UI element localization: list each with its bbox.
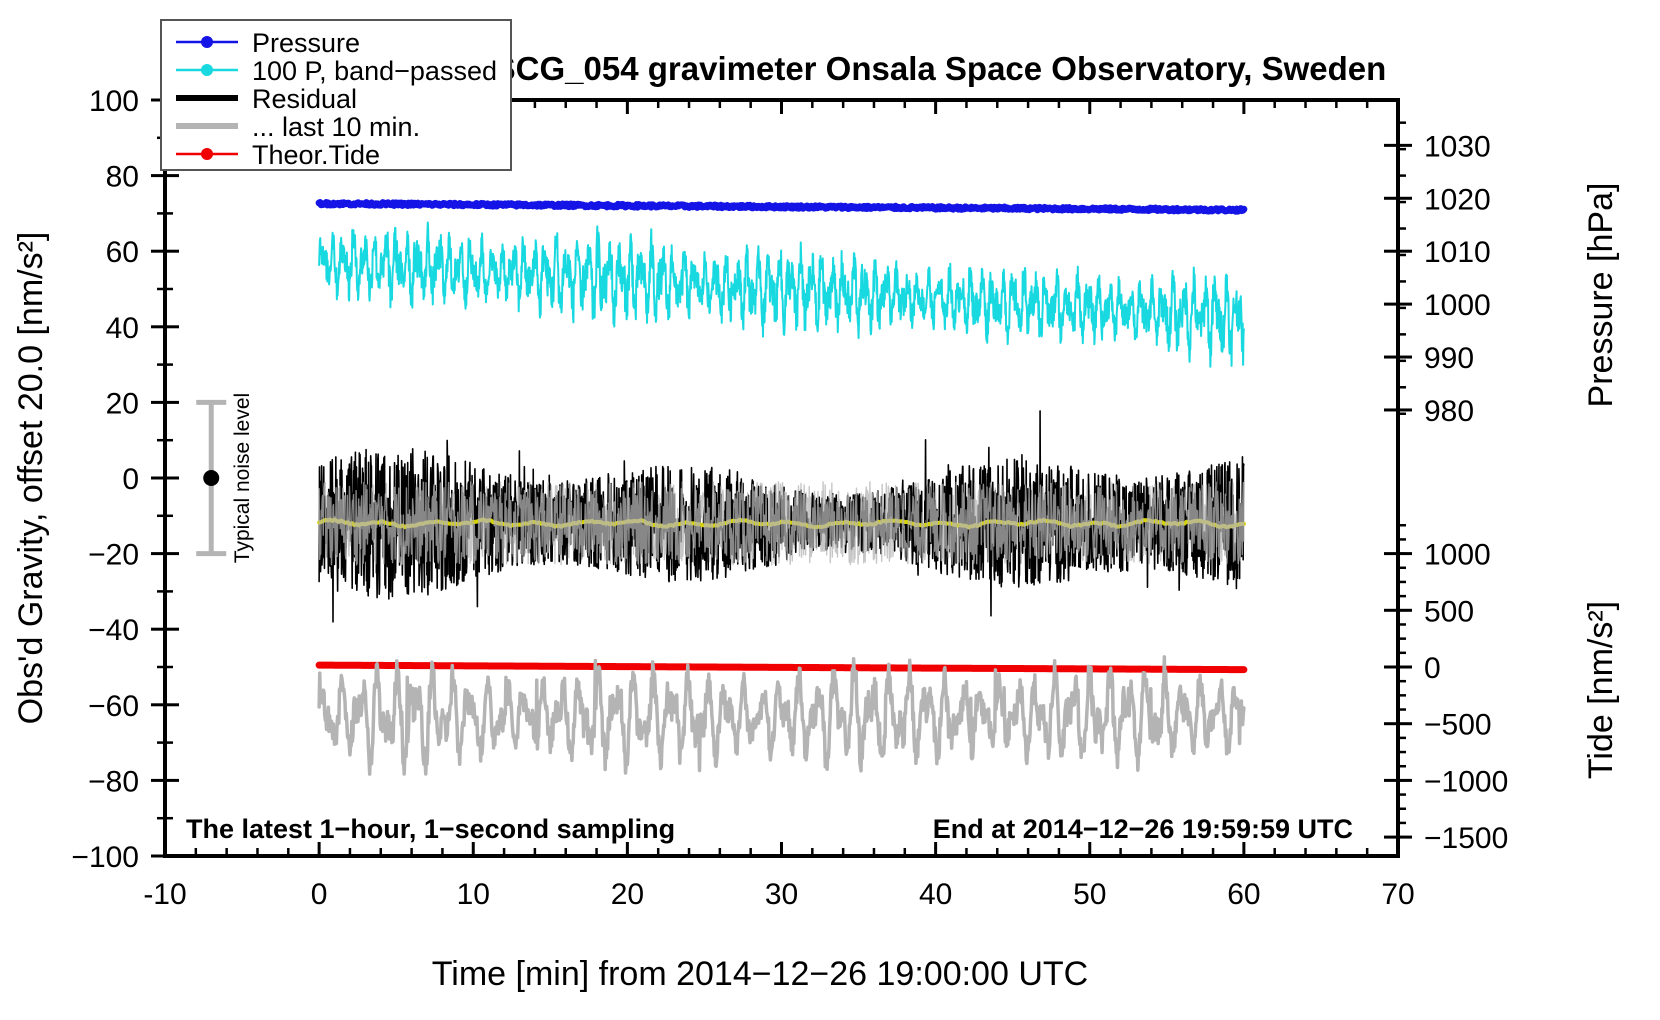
legend[interactable]: Pressure100 P, band−passedResidual... la…: [161, 20, 511, 170]
y-tick-label: −20: [88, 539, 139, 572]
x-tick-label: 70: [1381, 878, 1414, 911]
legend-marker-icon: [201, 64, 213, 76]
pressure-tick-label: 990: [1424, 342, 1474, 375]
y-axis-title-pressure: Pressure [hPa]: [1582, 183, 1620, 408]
pressure-tick-label: 1030: [1424, 130, 1491, 163]
tide-tick-label: −500: [1424, 709, 1492, 742]
y-tick-label: 40: [106, 312, 139, 345]
pressure-tick-label: 1010: [1424, 236, 1491, 269]
y-axis-title-left: Obs'd Gravity, offset 20.0 [nm/s²]: [12, 232, 50, 725]
legend-marker-icon: [201, 36, 213, 48]
plot-canvas: -10010203040506070 100806040200−20−40−60…: [0, 0, 1660, 1020]
pressure-tick-label: 980: [1424, 395, 1474, 428]
legend-marker-icon: [201, 148, 213, 160]
chart-title: SCG_054 gravimeter Onsala Space Observat…: [494, 50, 1387, 87]
x-tick-label: 0: [311, 878, 328, 911]
x-tick-label: 50: [1073, 878, 1106, 911]
legend-item-label: Residual: [252, 84, 357, 114]
y-tick-label: 60: [106, 236, 139, 269]
x-tick-label: -10: [143, 878, 186, 911]
y-tick-label: 80: [106, 161, 139, 194]
y-tick-label: −60: [88, 690, 139, 723]
tide-tick-label: 500: [1424, 595, 1474, 628]
bottom-left-note: The latest 1−hour, 1−second sampling: [186, 814, 675, 844]
y-tick-label: −100: [71, 841, 139, 874]
pressure-tick-label: 1020: [1424, 183, 1491, 216]
x-tick-label: 30: [765, 878, 798, 911]
y-tick-label: −40: [88, 614, 139, 647]
tide-tick-label: −1500: [1424, 822, 1508, 855]
tide-tick-label: 1000: [1424, 539, 1491, 572]
y-axis-title-tide: Tide [nm/s²]: [1582, 601, 1620, 779]
legend-item-label: Pressure: [252, 28, 360, 58]
tide-tick-label: −1000: [1424, 765, 1508, 798]
x-tick-label: 20: [611, 878, 644, 911]
y-tick-label: 100: [89, 85, 139, 118]
legend-item-label: Theor.Tide: [252, 140, 380, 170]
theoretical-tide-trace: [319, 665, 1244, 670]
gravimeter-chart: -10010203040506070 100806040200−20−40−60…: [0, 0, 1660, 1020]
tide-tick-label: 0: [1424, 652, 1441, 685]
legend-item-label: ... last 10 min.: [252, 112, 420, 142]
noise-level-label: Typical noise level: [231, 393, 254, 563]
bottom-right-note: End at 2014−12−26 19:59:59 UTC: [933, 814, 1353, 844]
x-tick-label: 60: [1227, 878, 1260, 911]
x-tick-label: 40: [919, 878, 952, 911]
x-axis-title: Time [min] from 2014−12−26 19:00:00 UTC: [432, 955, 1088, 993]
y-tick-label: −80: [88, 765, 139, 798]
legend-item-label: 100 P, band−passed: [252, 56, 497, 86]
pressure-tick-label: 1000: [1424, 289, 1491, 322]
y-tick-label: 0: [122, 463, 139, 496]
y-tick-label: 20: [106, 387, 139, 420]
noise-center-dot: [203, 470, 219, 486]
x-tick-label: 10: [457, 878, 490, 911]
